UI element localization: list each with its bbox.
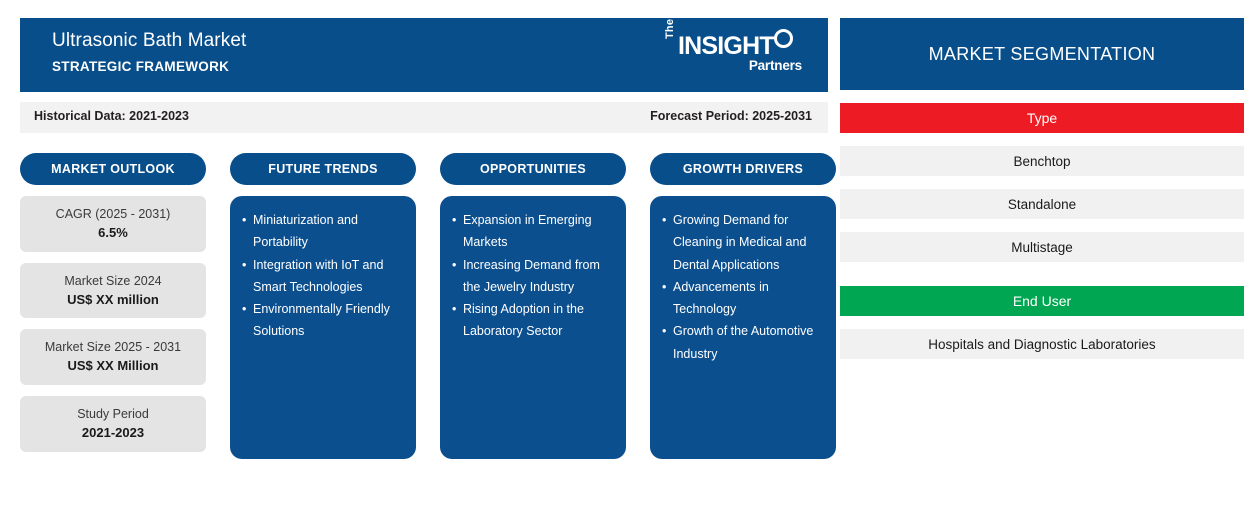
column-market-outlook: MARKET OUTLOOK CAGR (2025 - 2031) 6.5% M…	[20, 153, 206, 452]
bullet-item: Expansion in Emerging Markets	[452, 209, 616, 254]
bullet-item: Growing Demand for Cleaning in Medical a…	[662, 209, 826, 276]
page-title: Ultrasonic Bath Market	[52, 30, 246, 52]
segmentation-title: MARKET SEGMENTATION	[840, 18, 1244, 90]
report-header-bar: Ultrasonic Bath Market STRATEGIC FRAMEWO…	[20, 18, 828, 92]
segmentation-item: Benchtop	[840, 146, 1244, 176]
bullet-item: Advancements in Technology	[662, 276, 826, 321]
historical-data-label: Historical Data: 2021-2023	[34, 109, 189, 123]
column-heading-future-trends: FUTURE TRENDS	[230, 153, 416, 185]
stat-label: CAGR (2025 - 2031)	[28, 205, 198, 223]
stat-value: US$ XX million	[28, 290, 198, 310]
strategic-framework-panel: Ultrasonic Bath Market STRATEGIC FRAMEWO…	[10, 18, 828, 470]
bullet-item: Rising Adoption in the Laboratory Sector	[452, 298, 616, 343]
bullet-box-opportunities: Expansion in Emerging Markets Increasing…	[440, 196, 626, 459]
logo-insight-text: INSIGHT	[678, 34, 774, 59]
bullet-item: Increasing Demand from the Jewelry Indus…	[452, 254, 616, 299]
column-heading-growth-drivers: GROWTH DRIVERS	[650, 153, 836, 185]
period-strip: Historical Data: 2021-2023 Forecast Peri…	[20, 102, 828, 133]
segmentation-category-end-user: End User	[840, 286, 1244, 316]
column-heading-opportunities: OPPORTUNITIES	[440, 153, 626, 185]
stat-card: Market Size 2025 - 2031 US$ XX Million	[20, 329, 206, 385]
segmentation-item: Standalone	[840, 189, 1244, 219]
stat-value: US$ XX Million	[28, 356, 198, 376]
magnifier-loop-icon	[774, 29, 793, 48]
logo-the-text: The	[664, 19, 676, 39]
stat-card: Market Size 2024 US$ XX million	[20, 263, 206, 319]
segmentation-item: Hospitals and Diagnostic Laboratories	[840, 329, 1244, 359]
segmentation-category-type: Type	[840, 103, 1244, 133]
logo-partners-text: Partners	[749, 59, 802, 73]
bullet-item: Environmentally Friendly Solutions	[242, 298, 406, 343]
stat-value: 2021-2023	[28, 423, 198, 443]
stat-label: Market Size 2025 - 2031	[28, 338, 198, 356]
column-opportunities: OPPORTUNITIES Expansion in Emerging Mark…	[440, 153, 626, 459]
bullet-box-future-trends: Miniaturization and Portability Integrat…	[230, 196, 416, 459]
stat-card: Study Period 2021-2023	[20, 396, 206, 452]
bullet-item: Integration with IoT and Smart Technolog…	[242, 254, 406, 299]
bullet-item: Growth of the Automotive Industry	[662, 320, 826, 365]
column-heading-market-outlook: MARKET OUTLOOK	[20, 153, 206, 185]
stat-label: Market Size 2024	[28, 272, 198, 290]
stat-value: 6.5%	[28, 223, 198, 243]
insight-partners-logo: The INSIGHT Partners	[664, 29, 804, 81]
page-subtitle: STRATEGIC FRAMEWORK	[52, 59, 229, 74]
market-segmentation-panel: MARKET SEGMENTATION Type Benchtop Standa…	[840, 18, 1244, 359]
stat-card: CAGR (2025 - 2031) 6.5%	[20, 196, 206, 252]
segmentation-item: Multistage	[840, 232, 1244, 262]
bullet-box-growth-drivers: Growing Demand for Cleaning in Medical a…	[650, 196, 836, 459]
column-future-trends: FUTURE TRENDS Miniaturization and Portab…	[230, 153, 416, 459]
stat-label: Study Period	[28, 405, 198, 423]
bullet-item: Miniaturization and Portability	[242, 209, 406, 254]
forecast-period-label: Forecast Period: 2025-2031	[650, 109, 812, 123]
column-growth-drivers: GROWTH DRIVERS Growing Demand for Cleani…	[650, 153, 836, 459]
